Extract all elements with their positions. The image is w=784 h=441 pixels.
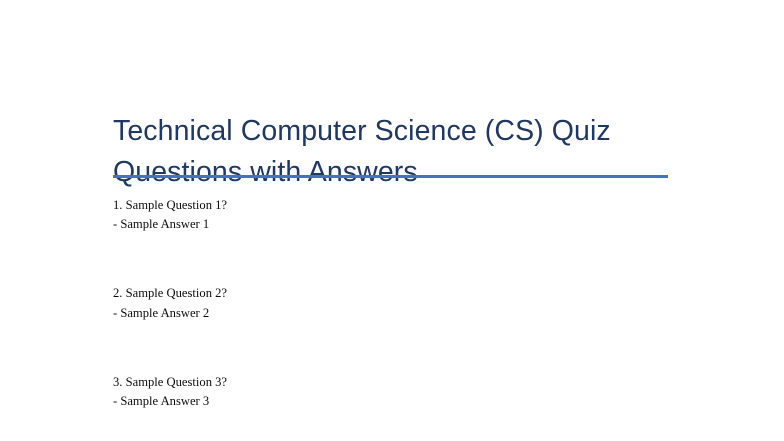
answer-text: - Sample Answer 2: [113, 304, 673, 323]
qa-item: 2. Sample Question 2? - Sample Answer 2: [113, 284, 673, 322]
qa-list: 1. Sample Question 1? - Sample Answer 1 …: [113, 196, 673, 441]
answer-text: - Sample Answer 3: [113, 392, 673, 411]
page-title-line-1: Technical Computer Science (CS) Quiz: [113, 111, 673, 152]
question-text: 3. Sample Question 3?: [113, 373, 673, 392]
page-title-line-2: Questions with Answers: [113, 152, 673, 193]
qa-item: 3. Sample Question 3? - Sample Answer 3: [113, 373, 673, 411]
document-page: Technical Computer Science (CS) Quiz Que…: [0, 0, 784, 441]
question-text: 1. Sample Question 1?: [113, 196, 673, 215]
answer-text: - Sample Answer 1: [113, 215, 673, 234]
qa-item: 1. Sample Question 1? - Sample Answer 1: [113, 196, 673, 234]
page-title: Technical Computer Science (CS) Quiz Que…: [113, 111, 673, 193]
title-underline-rule: [113, 175, 668, 178]
question-text: 2. Sample Question 2?: [113, 284, 673, 303]
